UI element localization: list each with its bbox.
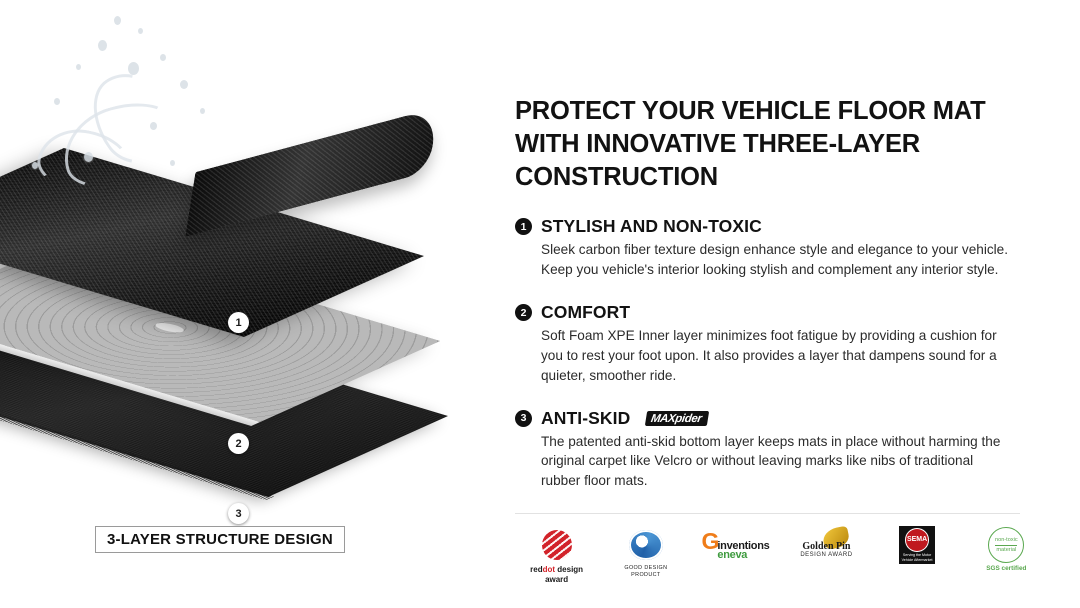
feature-number-badge: 2 — [515, 304, 532, 321]
exploded-layer-stack: 1 2 3 — [0, 120, 420, 490]
feature-heading: 3 ANTI-SKID MAXpider — [515, 408, 1040, 429]
feature-heading: 2 COMFORT — [515, 302, 1040, 323]
feature-heading: 1 STYLISH AND NON-TOXIC — [515, 216, 1040, 237]
good-design-icon — [612, 528, 679, 562]
award-inventions-geneva: G inventions eneva — [702, 528, 770, 565]
callout-badge-3: 3 — [228, 503, 249, 524]
award-golden-pin: Golden Pin DESIGN AWARD — [791, 528, 861, 565]
sema-seal-text: SEMA — [905, 528, 929, 552]
award-good-design: GOOD DESIGN PRODUCT — [612, 528, 679, 579]
award-caption: GOOD DESIGN PRODUCT — [612, 565, 679, 579]
feature-number-badge: 3 — [515, 410, 532, 427]
feature-title: ANTI-SKID — [541, 408, 630, 429]
page-headline: PROTECT YOUR VEHICLE FLOOR MAT WITH INNO… — [515, 95, 1040, 194]
callout-badge-2: 2 — [228, 433, 249, 454]
feature-description: The patented anti-skid bottom layer keep… — [541, 432, 1011, 492]
feature-description: Soft Foam XPE Inner layer minimizes foot… — [541, 326, 1011, 386]
water-splash-graphic — [10, 10, 270, 280]
feature-title: COMFORT — [541, 302, 630, 323]
feature-number-badge: 1 — [515, 218, 532, 235]
sgs-non-toxic-icon: non-toxic material — [973, 528, 1040, 562]
awards-row: reddot design award GOOD DESIGN PRODUCT … — [515, 528, 1040, 585]
award-sema: SEMA Serving the Motor Vehicle Aftermark… — [883, 528, 950, 565]
callout-badge-1: 1 — [228, 312, 249, 333]
feature-title: STYLISH AND NON-TOXIC — [541, 216, 762, 237]
sgs-line-2: material — [996, 546, 1016, 554]
award-reddot: reddot design award — [523, 528, 590, 585]
foam-ring-center — [151, 321, 188, 334]
feature-item-anti-skid: 3 ANTI-SKID MAXpider The patented anti-s… — [515, 408, 1040, 492]
golden-pin-subtitle: DESIGN AWARD — [791, 552, 861, 558]
feature-item-comfort: 2 COMFORT Soft Foam XPE Inner layer mini… — [515, 302, 1040, 386]
sema-icon: SEMA Serving the Motor Vehicle Aftermark… — [883, 528, 950, 562]
maxpider-brand-logo: MAXpider — [645, 411, 710, 426]
golden-pin-icon: Golden Pin DESIGN AWARD — [791, 528, 861, 562]
feature-description: Sleek carbon fiber texture design enhanc… — [541, 240, 1011, 280]
award-caption: reddot design award — [523, 565, 590, 585]
award-sgs-non-toxic: non-toxic material SGS certified — [973, 528, 1040, 573]
structure-design-caption: 3-LAYER STRUCTURE DESIGN — [95, 526, 345, 553]
product-illustration-panel: 1 2 3 3-LAYER STRUCTURE DESIGN — [0, 0, 500, 608]
sgs-line-1: non-toxic — [995, 536, 1018, 544]
sema-subcaption: Serving the Motor Vehicle Aftermarket — [899, 553, 935, 562]
awards-divider — [515, 513, 1020, 514]
geneva-word: eneva — [717, 550, 747, 561]
description-panel: PROTECT YOUR VEHICLE FLOOR MAT WITH INNO… — [515, 0, 1040, 608]
feature-item-stylish: 1 STYLISH AND NON-TOXIC Sleek carbon fib… — [515, 216, 1040, 280]
golden-pin-title: Golden Pin — [791, 541, 861, 552]
award-caption: SGS certified — [973, 565, 1040, 573]
inventions-geneva-icon: G inventions eneva — [702, 528, 770, 562]
reddot-icon — [523, 528, 590, 562]
